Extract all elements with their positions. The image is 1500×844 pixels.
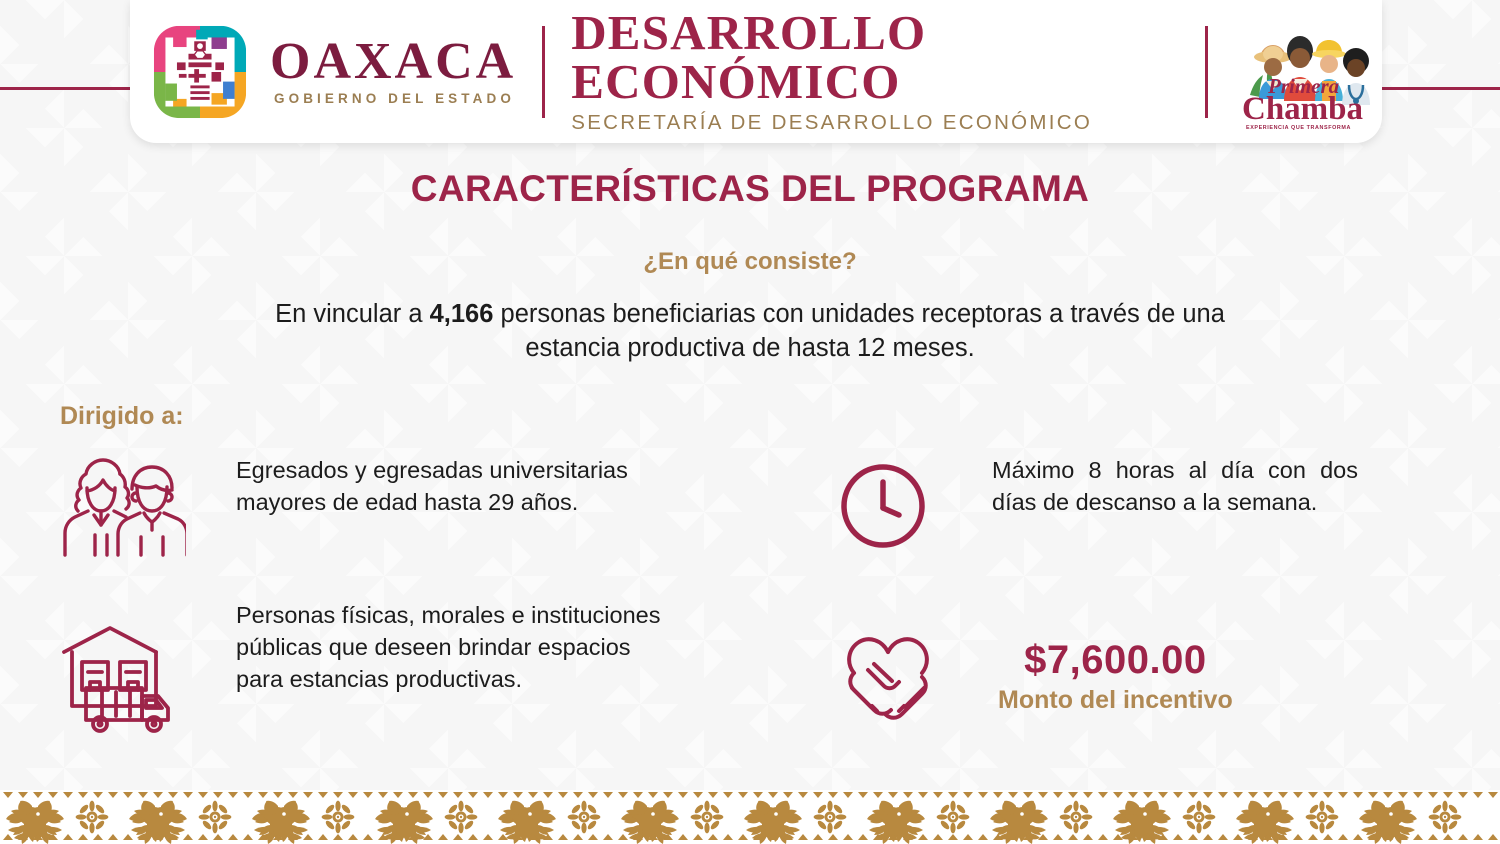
lead-paragraph: En vincular a 4,166 personas beneficiari… xyxy=(250,297,1250,365)
handshake-heart-icon xyxy=(838,630,938,722)
item-organizations-text: Personas físicas, morales e institucione… xyxy=(236,600,678,696)
item-graduates: Egresados y egresadas universitarias may… xyxy=(58,455,658,559)
incentive-label: Monto del incentivo xyxy=(998,686,1233,715)
footer-ornament-band xyxy=(0,790,1500,844)
dirigido-label: Dirigido a: xyxy=(60,402,184,431)
warehouse-truck-icon xyxy=(58,622,186,734)
clock-icon xyxy=(838,461,928,551)
item-organizations: Personas físicas, morales e institucione… xyxy=(58,600,678,734)
item-hours: Máximo 8 horas al día con dos días de de… xyxy=(838,455,1358,551)
lead-text-before: En vincular a xyxy=(275,300,430,328)
item-hours-text: Máximo 8 horas al día con dos días de de… xyxy=(992,455,1358,519)
item-incentive: $7,600.00 Monto del incentivo xyxy=(838,630,1358,722)
page-title: CARACTERÍSTICAS DEL PROGRAMA xyxy=(0,168,1500,210)
oaxacan-embroidery-border xyxy=(0,790,1500,844)
lead-text-after: personas beneficiarias con unidades rece… xyxy=(493,300,1224,362)
item-graduates-text: Egresados y egresadas universitarias may… xyxy=(236,455,658,519)
question-title: ¿En qué consiste? xyxy=(0,248,1500,276)
incentive-block: $7,600.00 Monto del incentivo xyxy=(998,638,1233,715)
couple-graduates-icon xyxy=(58,455,186,559)
lead-highlight-number: 4,166 xyxy=(430,300,494,328)
incentive-amount: $7,600.00 xyxy=(998,638,1233,683)
